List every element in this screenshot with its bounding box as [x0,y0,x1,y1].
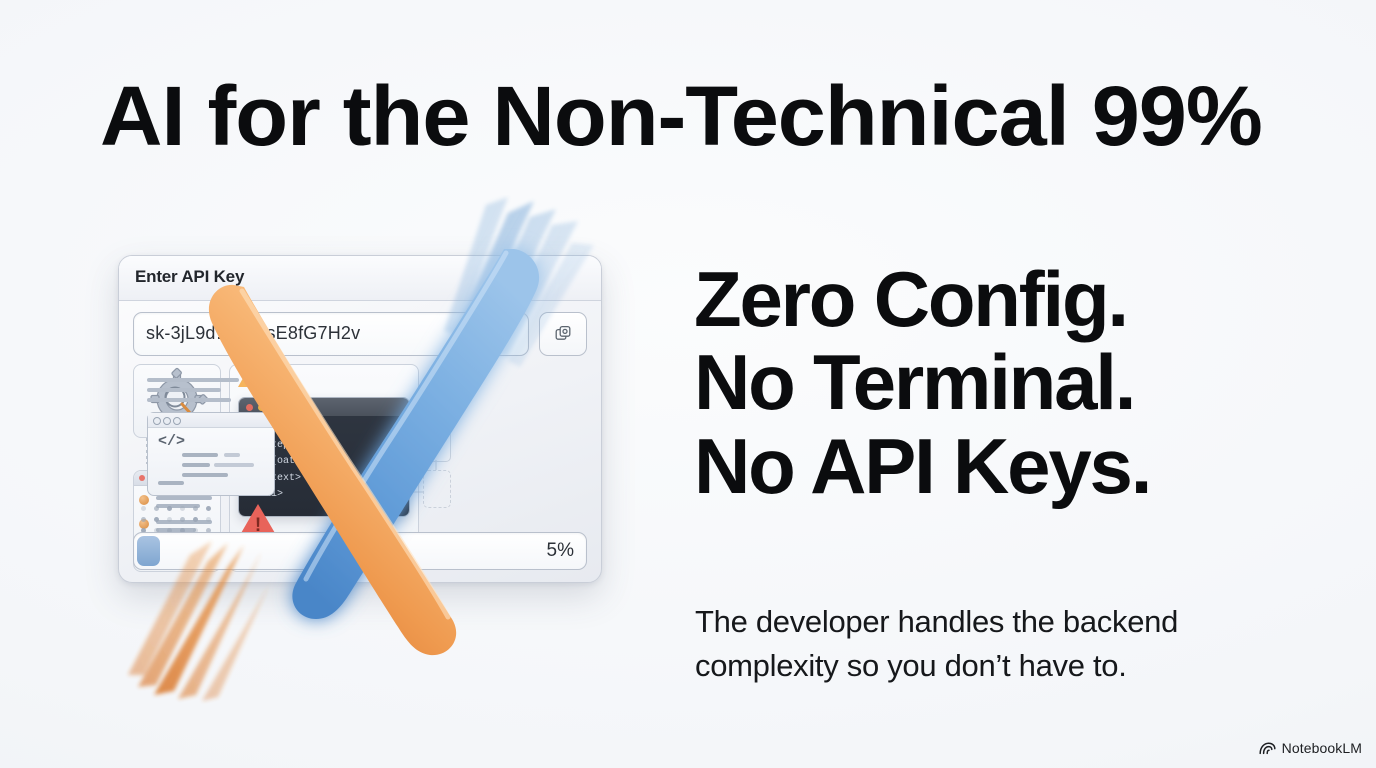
list-row [156,496,212,500]
grid-dot [206,517,211,522]
progress-percent-label: 5% [547,540,574,562]
api-key-value: sk-3jL9d…5K1sE8fG7H2v [146,323,520,344]
grid-dot [141,517,146,522]
subtitle-line-1: The developer handles the backend [695,600,1305,644]
panel-header-label: Enter API Key [135,267,244,287]
watermark: NotebookLM [1259,740,1362,756]
grid-dot [180,517,185,522]
close-dot-icon [246,404,253,411]
grid-dot [154,517,159,522]
code-snippet-window: </> [147,412,275,496]
grid-dot [141,506,146,511]
text-line [147,398,231,402]
page-title: AI for the Non-Technical 99% [100,74,1326,158]
maximize-dot-icon [173,417,181,425]
api-key-row: sk-3jL9d…5K1sE8fG7H2v [133,312,587,354]
panel-body: ! Wa <html> <step API [oath: 8sd2d3 </te… [133,364,587,522]
text-line [147,388,221,392]
watermark-label: NotebookLM [1282,740,1362,756]
grid-dot [193,517,198,522]
minimize-dot-icon [163,417,171,425]
panel-header: Enter API Key [119,256,601,301]
api-key-panel: Enter API Key sk-3jL9d…5K1sE8fG7H2v [118,255,602,583]
list-bullet-icon [139,495,149,505]
headline-line-2: No Terminal. [694,341,1314,424]
headline-block: Zero Config.No Terminal.No API Keys. [694,258,1314,508]
close-dot-icon [139,475,145,481]
slide-canvas: AI for the Non-Technical 99% Enter API K… [0,0,1376,768]
grid-dot [167,506,172,511]
maximize-dot-icon [270,404,277,411]
grid-dot [180,506,185,511]
code-snippet-titlebar [148,413,274,428]
exclamation-glyph: ! [245,376,248,386]
copy-icon[interactable] [539,312,587,356]
warning-triangle-orange-icon: ! [251,372,271,391]
grid-dot [206,506,211,511]
code-brackets-icon: </> [158,433,185,450]
close-dot-icon [153,417,161,425]
progress-fill [137,536,160,566]
grid-dot [193,506,198,511]
notebooklm-icon [1259,742,1276,755]
text-line [147,378,239,382]
subtitle-line-2: complexity so you don’t have to. [695,644,1305,688]
illustration-api-key-panel: Enter API Key sk-3jL9d…5K1sE8fG7H2v [118,255,602,583]
api-key-input[interactable]: sk-3jL9d…5K1sE8fG7H2v [133,312,529,356]
grid-dot [167,517,172,522]
progress-bar[interactable]: 5% [133,532,587,570]
headline-line-3: No API Keys. [694,425,1314,508]
minimize-dot-icon [258,404,265,411]
grid-dot [154,506,159,511]
flow-diagram [391,430,461,540]
headline-line-1: Zero Config. [694,258,1314,341]
subtitle-block: The developer handles the backendcomplex… [695,600,1305,688]
